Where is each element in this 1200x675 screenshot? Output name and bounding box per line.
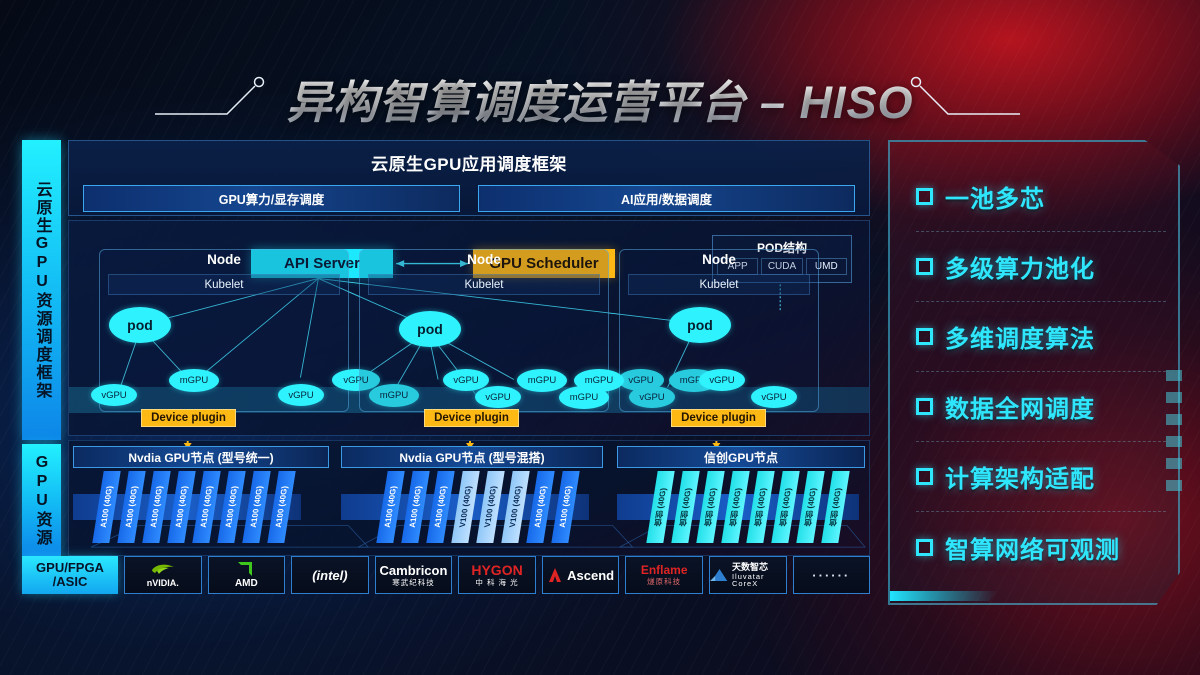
gpu-card-label: 信创 (40G) (652, 488, 669, 527)
slide-canvas: 异构智算调度运营平台 – HISO 云原生GPU资源调度框架 GPU资源 云原生… (0, 0, 1200, 675)
gpu-card-label: 信创 (40G) (702, 488, 719, 527)
feature-label-2: 多级算力池化 (945, 249, 1095, 284)
feature-label-6: 智算网络可观测 (945, 530, 1120, 565)
amd-wordmark: AMD (235, 579, 258, 589)
vendor-enflame[interactable]: Enflame 燧原科技 (625, 556, 703, 594)
feature-item-3[interactable]: 多维调度算法 (916, 302, 1166, 372)
device-plugin-1[interactable]: Device plugin (141, 409, 236, 427)
vgpu-bubble-2-2[interactable]: vGPU (475, 386, 521, 408)
gpu-card-label: A100 (40G) (249, 486, 265, 528)
gpu-card-label: A100 (40G) (174, 486, 190, 528)
vendor-ascend[interactable]: Ascend (542, 556, 620, 594)
device-plugin-3[interactable]: Device plugin (671, 409, 766, 427)
gpu-card-label: A100 (40G) (558, 486, 574, 528)
vendor-amd[interactable]: AMD (208, 556, 286, 594)
gpu-card-label: 信创 (40G) (802, 488, 819, 527)
vendor-iluvatar[interactable]: 天数智芯 Iluvatar CoreX (709, 556, 787, 594)
kubelet-bar-2: Kubelet (368, 274, 600, 295)
hygon-subtext: 中 科 海 光 (475, 579, 518, 587)
vendor-cambricon[interactable]: Cambricon 寒武纪科技 (375, 556, 453, 594)
cloud-native-scheduling-frame: API Server GPU Scheduler POD结构 APP CUDA … (68, 220, 870, 436)
app-scheduling-heading: 云原生GPU应用调度框架 (69, 150, 869, 175)
device-plugin-2[interactable]: Device plugin (424, 409, 519, 427)
gpu-card-label: 信创 (40G) (752, 488, 769, 527)
gpu-card-label: V100 (40G) (483, 486, 499, 527)
gpu-card-label: A100 (40G) (274, 486, 290, 528)
sidebar-tab-gpu-resource: GPU资源 (22, 444, 61, 556)
bar-gpu-compute-mem[interactable]: GPU算力/显存调度 (83, 185, 460, 212)
ascend-wordmark: Ascend (567, 569, 614, 582)
gpu-card-label: 信创 (40G) (777, 488, 794, 527)
pod-bubble-2[interactable]: pod (399, 311, 461, 347)
checkbox-icon (916, 468, 933, 485)
iluvatar-wordmark-cn: 天数智芯 (732, 563, 786, 572)
gpu-node-bar-1[interactable]: Nvdia GPU节点 (型号统一) (73, 446, 329, 468)
gpu-card-label: A100 (40G) (408, 486, 424, 528)
gpu-card-label: A100 (40G) (224, 486, 240, 528)
vgpu-bubble-1-1[interactable]: vGPU (91, 384, 137, 406)
hygon-icon: HYGON 中 科 海 光 (471, 563, 522, 587)
vgpu-bubble-3-3[interactable]: vGPU (751, 386, 797, 408)
checkbox-icon (916, 258, 933, 275)
vendor-category-tag: GPU/FPGA /ASIC (22, 556, 118, 594)
feature-panel-stripes (1166, 370, 1182, 500)
slide-title-block: 异构智算调度运营平台 – HISO (0, 66, 1200, 131)
nvidia-wordmark: nVIDIA. (147, 579, 179, 588)
nvidia-eye-icon (148, 562, 178, 577)
vendor-more[interactable]: ······ (793, 556, 871, 594)
vgpu-bubble-1-3[interactable]: vGPU (278, 384, 324, 406)
vendor-hygon[interactable]: HYGON 中 科 海 光 (458, 556, 536, 594)
bar-ai-app-data[interactable]: AI应用/数据调度 (478, 185, 855, 212)
gpu-card-label: 信创 (40G) (727, 488, 744, 527)
ascend-mark-icon (547, 567, 563, 583)
feature-label-1: 一池多芯 (945, 179, 1045, 214)
cambricon-subtext: 寒武纪科技 (392, 579, 435, 587)
gpu-card-label: V100 (40G) (458, 486, 474, 527)
node-title-2: Node (360, 252, 608, 267)
intel-wordmark: (intel) (312, 569, 347, 582)
gpu-node-bar-3[interactable]: 信创GPU节点 (617, 446, 865, 468)
node-title-3: Node (620, 252, 818, 267)
gpu-card-label: 信创 (40G) (677, 488, 694, 527)
feature-panel-accent-bar (890, 591, 998, 601)
feature-item-6[interactable]: 智算网络可观测 (916, 512, 1166, 582)
vendor-logo-row: GPU/FPGA /ASIC nVIDIA. AMD (22, 556, 870, 594)
gpu-card-label: A100 (40G) (383, 486, 399, 528)
architecture-diagram: 云原生GPU资源调度框架 GPU资源 云原生GPU应用调度框架 GPU算力/显存… (22, 140, 870, 605)
more-vendors-label: ······ (812, 568, 850, 583)
iluvatar-mark-icon (710, 567, 729, 583)
gpu-card-label: A100 (40G) (99, 486, 115, 528)
amd-icon: AMD (235, 561, 258, 589)
gpu-node-bar-2[interactable]: Nvdia GPU节点 (型号混搭) (341, 446, 603, 468)
checkbox-icon (916, 328, 933, 345)
gpu-card-label: A100 (40G) (433, 486, 449, 528)
checkbox-icon (916, 539, 933, 556)
mgpu-bubble-3-1[interactable]: mGPU (574, 369, 624, 392)
title-decoration-right (890, 66, 1020, 126)
enflame-subtext: 燧原科技 (647, 578, 681, 586)
vendor-tag-line1: GPU/FPGA (36, 561, 104, 575)
intel-icon: (intel) (312, 569, 347, 582)
gpu-card-label: 信创 (40G) (827, 488, 844, 527)
nvidia-icon: nVIDIA. (147, 562, 179, 588)
feature-item-2[interactable]: 多级算力池化 (916, 232, 1166, 302)
vendor-intel[interactable]: (intel) (291, 556, 369, 594)
vendor-tag-line2: /ASIC (36, 575, 104, 589)
feature-highlight-panel: 一池多芯 多级算力池化 多维调度算法 数据全网调度 计算架构适配 智算网络可观测 (888, 140, 1180, 605)
app-scheduling-frame: 云原生GPU应用调度框架 GPU算力/显存调度 AI应用/数据调度 (68, 140, 870, 216)
scheduling-bar-row: GPU算力/显存调度 AI应用/数据调度 (69, 175, 869, 212)
node-title-1: Node (100, 252, 348, 267)
mgpu-bubble-2-3[interactable]: mGPU (517, 369, 567, 392)
pod-bubble-1[interactable]: pod (109, 307, 171, 343)
iluvatar-icon: 天数智芯 Iluvatar CoreX (710, 563, 786, 588)
hygon-wordmark: HYGON (471, 563, 522, 577)
feature-list: 一池多芯 多级算力池化 多维调度算法 数据全网调度 计算架构适配 智算网络可观测 (916, 162, 1166, 591)
sidebar-tab-framework: 云原生GPU资源调度框架 (22, 140, 61, 440)
mgpu-bubble-1-2[interactable]: mGPU (169, 369, 219, 392)
gpu-card-label: A100 (40G) (124, 486, 140, 528)
feature-item-4[interactable]: 数据全网调度 (916, 372, 1166, 442)
cambricon-icon: Cambricon 寒武纪科技 (380, 564, 448, 587)
checkbox-icon (916, 188, 933, 205)
feature-item-1[interactable]: 一池多芯 (916, 162, 1166, 232)
kubelet-bar-1: Kubelet (108, 274, 340, 295)
feature-label-3: 多维调度算法 (945, 319, 1095, 354)
vendor-nvidia[interactable]: nVIDIA. (124, 556, 202, 594)
gpu-card-label: V100 (40G) (508, 486, 524, 527)
ascend-icon: Ascend (547, 567, 614, 583)
gpu-card-label: A100 (40G) (199, 486, 215, 528)
gpu-resource-frame: Nvdia GPU节点 (型号统一) A100 (40G) A100 (40G)… (68, 440, 870, 556)
pod-bubble-3[interactable]: pod (669, 307, 731, 343)
vgpu-bubble-3-2[interactable]: vGPU (699, 369, 745, 391)
page-title: 异构智算调度运营平台 – HISO (286, 66, 913, 131)
gpu-card-label: A100 (40G) (533, 486, 549, 528)
checkbox-icon (916, 398, 933, 415)
enflame-icon: Enflame 燧原科技 (641, 564, 688, 586)
feature-label-5: 计算架构适配 (945, 459, 1095, 494)
feature-label-4: 数据全网调度 (945, 389, 1095, 424)
title-decoration-left (155, 66, 315, 126)
iluvatar-wordmark-en: Iluvatar CoreX (732, 573, 786, 588)
kubelet-bar-3: Kubelet (628, 274, 810, 295)
gpu-card-label: A100 (40G) (149, 486, 165, 528)
enflame-wordmark: Enflame (641, 564, 688, 576)
amd-arrow-icon (237, 561, 255, 577)
feature-item-5[interactable]: 计算架构适配 (916, 442, 1166, 512)
cambricon-wordmark: Cambricon (380, 564, 448, 577)
